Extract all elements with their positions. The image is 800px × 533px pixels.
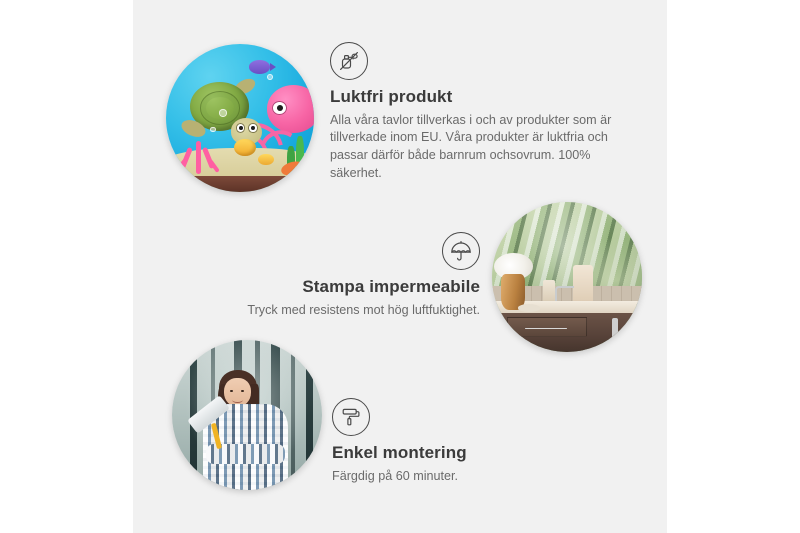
feature-title: Luktfri produkt	[330, 87, 630, 107]
vanity-cabinet	[501, 313, 642, 352]
bubble-icon	[210, 127, 215, 132]
ocean-photo	[166, 44, 314, 192]
cabinet-drawer	[507, 317, 587, 337]
bubble-icon	[219, 109, 226, 116]
feature-body: Tryck med resistens mot hög luftfuktighe…	[180, 302, 480, 320]
infographic-banner: Luktfri produkt Alla våra tavlor tillver…	[0, 0, 800, 533]
feature-odour-free: Luktfri produkt Alla våra tavlor tillver…	[330, 42, 630, 183]
coral	[178, 136, 219, 174]
woman-figure	[199, 370, 292, 490]
bathroom-photo	[492, 202, 642, 352]
turtle-eye	[236, 123, 245, 133]
feature-waterproof-print: Stampa impermeabile Tryck med resistens …	[180, 232, 480, 319]
turtle-eye	[248, 123, 257, 133]
purple-fish	[249, 60, 270, 73]
bathroom-photo-art	[492, 202, 642, 352]
feature-body: Alla våra tavlor tillverkas i och av pro…	[330, 112, 630, 184]
woman-photo-art	[172, 340, 322, 490]
smile	[232, 397, 242, 403]
no-perfume-icon	[330, 42, 368, 80]
feature-easy-mounting: Enkel montering Färgdig på 60 minuter.	[332, 398, 632, 485]
woman-photo	[172, 340, 322, 490]
umbrella-icon	[442, 232, 480, 270]
bubble-icon	[267, 74, 273, 80]
paint-roller-glyph	[339, 405, 363, 429]
paint-roller-icon	[332, 398, 370, 436]
soap-dish	[518, 304, 541, 312]
cabinet-handle	[612, 318, 618, 340]
umbrella-glyph	[449, 239, 473, 263]
ocean-photo-art	[166, 44, 314, 192]
no-perfume-glyph	[337, 49, 361, 73]
feature-title: Stampa impermeabile	[180, 277, 480, 297]
sea-floor-strip	[166, 176, 314, 192]
feature-body: Färgdig på 60 minuter.	[332, 468, 632, 486]
octopus	[267, 85, 314, 132]
octopus-eye	[272, 101, 287, 115]
soap-dispenser	[573, 265, 593, 306]
feature-title: Enkel montering	[332, 443, 632, 463]
